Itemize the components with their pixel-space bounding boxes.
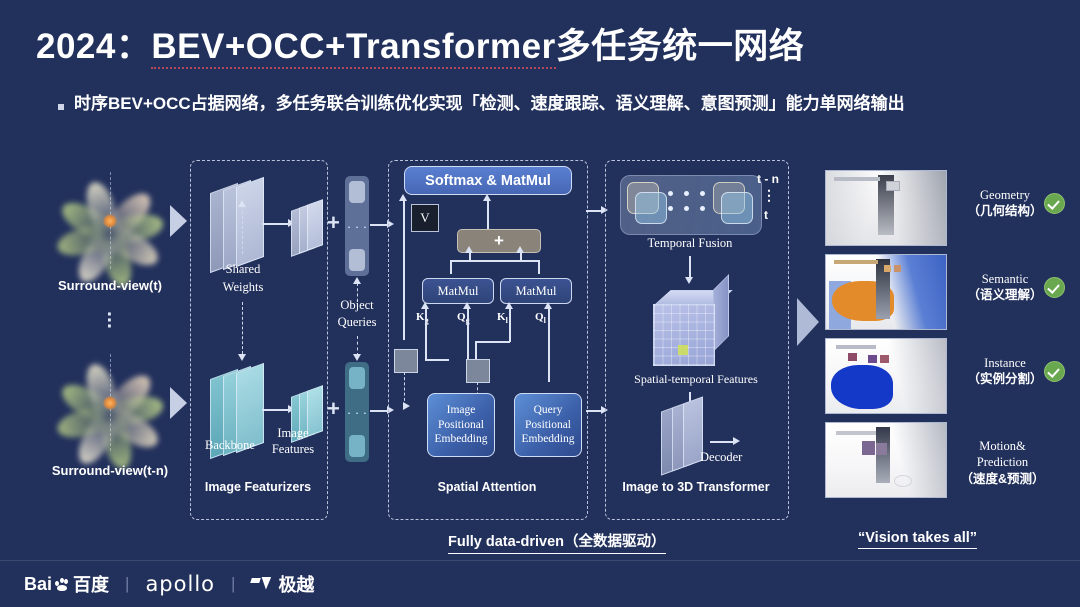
backbone-top-arrow: [262, 223, 288, 225]
decoder-out-line: [710, 441, 734, 443]
object-queries-top: · · ·: [345, 176, 369, 276]
query-pe-line1: Query: [521, 403, 574, 417]
shared-weights-label-2: Weights: [198, 280, 288, 295]
add-branch-left-vert: [450, 260, 452, 274]
kg-arrowhead-icon: [421, 302, 429, 309]
title-suffix: 多任务统一网络: [556, 27, 805, 66]
attn-out-line: [487, 200, 489, 230]
value-rail-arrowhead-icon: [399, 194, 407, 201]
ql-line: [548, 308, 550, 382]
output-label-motion-cn: （速度&预测）: [940, 471, 1065, 487]
surround-view-t-caption: Surround-view(t): [22, 278, 198, 293]
jiyue-mark-icon: [251, 577, 272, 592]
object-queries-arrow-down: [357, 336, 358, 356]
matmul-local-box: MatMul: [500, 278, 572, 304]
title-underlined: BEV+OCC+Transformer: [151, 27, 555, 69]
kg-line: [425, 308, 427, 360]
image-features-label-1: Image: [262, 426, 324, 441]
backbone-bottom-arrow: [262, 409, 288, 411]
baidu-paw-icon: [54, 577, 71, 592]
input-arrow-top-icon: [170, 205, 187, 237]
caption-fully-data-driven: Fully data-driven（全数据驱动）: [448, 530, 666, 554]
attn-out-arrowhead-icon: [483, 194, 491, 201]
query-positional-embedding-box: Query Positional Embedding: [514, 393, 582, 457]
image-to-3d-transformer-label: Image to 3D Transformer: [605, 480, 787, 494]
output-label-motion: Motion& Prediction （速度&预测）: [940, 438, 1065, 487]
bullet-text: 时序BEV+OCC占据网络，多任务联合训练优化实现「检测、速度跟踪、语义理解、意…: [74, 92, 905, 117]
spatial-temporal-features-label: Spatial-temporal Features: [608, 372, 784, 387]
softmax-matmul-box: Softmax & MatMul: [404, 166, 572, 195]
temporal-fusion-block: [620, 175, 762, 235]
t-minus-n-label: t - n: [757, 172, 779, 186]
output-label-motion-en2: Prediction: [940, 454, 1065, 470]
surround-view-tn-image: [55, 350, 165, 455]
footer-bar: Bai 百度 | apollo | 极越: [0, 560, 1080, 607]
add-in-right-arrowhead-icon: [516, 246, 524, 253]
v-box: V: [411, 204, 439, 232]
object-queries-arrowhead-up-icon: [353, 277, 361, 284]
shared-weights-arrow-down: [242, 302, 243, 354]
ql-arrowhead-icon: [544, 302, 552, 309]
image-features-label-2: Features: [262, 442, 324, 457]
output-check-geometry-icon: [1044, 193, 1065, 214]
surround-view-tn-caption: Surround-view(t-n): [12, 463, 208, 478]
logo-jiyue: 极越: [251, 571, 314, 597]
object-queries-label-2: Queries: [327, 315, 387, 330]
object-queries-bottom: · · ·: [345, 362, 369, 462]
title-prefix: 2024：: [36, 27, 151, 66]
sa-out-bottom-line: [586, 410, 602, 412]
spatial-temporal-voxel-cube: [653, 290, 727, 364]
logo-baidu: Bai 百度: [24, 571, 109, 597]
surround-view-t-image: [55, 168, 165, 273]
object-queries-label-1: Object: [327, 298, 387, 313]
add-branch-horizontal: [450, 260, 539, 262]
matmul-global-box: MatMul: [422, 278, 494, 304]
t-dots-label: ⋮: [762, 187, 776, 204]
add-in-left-arrowhead-icon: [465, 246, 473, 253]
query-pe-line2: Positional: [521, 418, 574, 432]
shared-weights-arrowhead-down-icon: [238, 354, 246, 361]
kg-line-h: [425, 359, 449, 361]
architecture-diagram: Surround-view(t) ··· Surround-view(t-n) …: [0, 150, 1080, 550]
caption-vision-takes-all: “Vision takes all”: [858, 530, 977, 549]
tf-to-cube-line: [689, 256, 691, 278]
outputs-arrow-icon: [797, 298, 819, 346]
kl-line-v2: [475, 341, 477, 361]
kl-arrowhead-icon: [505, 302, 513, 309]
output-image-motion: [825, 422, 947, 498]
logo-baidu-latin: Bai: [24, 574, 52, 595]
decoder-label: Decoder: [700, 450, 742, 465]
value-rail-line: [403, 200, 405, 340]
page-title: 2024：BEV+OCC+Transformer多任务统一网络: [36, 18, 804, 69]
tf-to-cube-arrowhead-icon: [685, 277, 693, 284]
input-ellipsis: ···: [95, 312, 125, 330]
object-queries-arrowhead-down-icon: [353, 354, 361, 361]
backbone-label: Backbone: [196, 438, 264, 453]
queries-out-arrow-top: [370, 224, 388, 226]
output-check-semantic-icon: [1044, 277, 1065, 298]
image-pe-line3: Embedding: [434, 432, 487, 446]
logo-jiyue-cn: 极越: [278, 571, 314, 597]
output-image-geometry: [825, 170, 947, 246]
image-pe-line1: Image: [434, 403, 487, 417]
image-pe-dashed-link: [404, 372, 405, 406]
query-feature-token-box: [466, 359, 490, 383]
ql-label: Ql: [535, 311, 546, 325]
input-arrow-bottom-icon: [170, 387, 187, 419]
footer-separator-2: |: [231, 574, 235, 594]
shared-weights-arrowhead-up-icon: [238, 200, 246, 207]
spatial-attention-label: Spatial Attention: [388, 480, 586, 494]
output-check-instance-icon: [1044, 361, 1065, 382]
image-featurizers-label: Image Featurizers: [190, 480, 326, 494]
plus-top: +: [327, 212, 340, 234]
queries-out-arrow-bottom: [370, 410, 388, 412]
output-label-motion-en: Motion&: [940, 438, 1065, 454]
decoder-out-arrowhead-icon: [733, 437, 740, 445]
qg-arrowhead-icon: [463, 302, 471, 309]
image-pe-line2: Positional: [434, 418, 487, 432]
bullet-marker-icon: [58, 104, 64, 110]
image-positional-embedding-box: Image Positional Embedding: [427, 393, 495, 457]
plus-bottom: +: [327, 398, 340, 420]
t-label: t: [764, 208, 768, 222]
logo-baidu-cn: 百度: [73, 571, 109, 597]
kl-line-h: [475, 341, 510, 343]
add-branch-right-vert: [538, 260, 540, 274]
kl-line: [509, 308, 511, 342]
sa-out-top-line: [586, 210, 602, 212]
logo-apollo: apollo: [145, 572, 215, 596]
shared-weights-arrow-up: [242, 206, 243, 254]
image-pe-arrowhead-icon: [403, 402, 410, 410]
image-feature-token-box: [394, 349, 418, 373]
output-image-semantic: [825, 254, 947, 330]
shared-weights-label-1: Shared: [198, 262, 288, 277]
kl-label: Kl: [497, 311, 508, 325]
output-image-instance: [825, 338, 947, 414]
kg-label: Kg: [416, 311, 429, 325]
temporal-fusion-label: Temporal Fusion: [620, 236, 760, 251]
slide-root: 2024：BEV+OCC+Transformer多任务统一网络 时序BEV+OC…: [0, 0, 1080, 607]
query-pe-line3: Embedding: [521, 432, 574, 446]
bullet-row: 时序BEV+OCC占据网络，多任务联合训练优化实现「检测、速度跟踪、语义理解、意…: [58, 92, 1048, 117]
footer-separator-1: |: [125, 574, 129, 594]
